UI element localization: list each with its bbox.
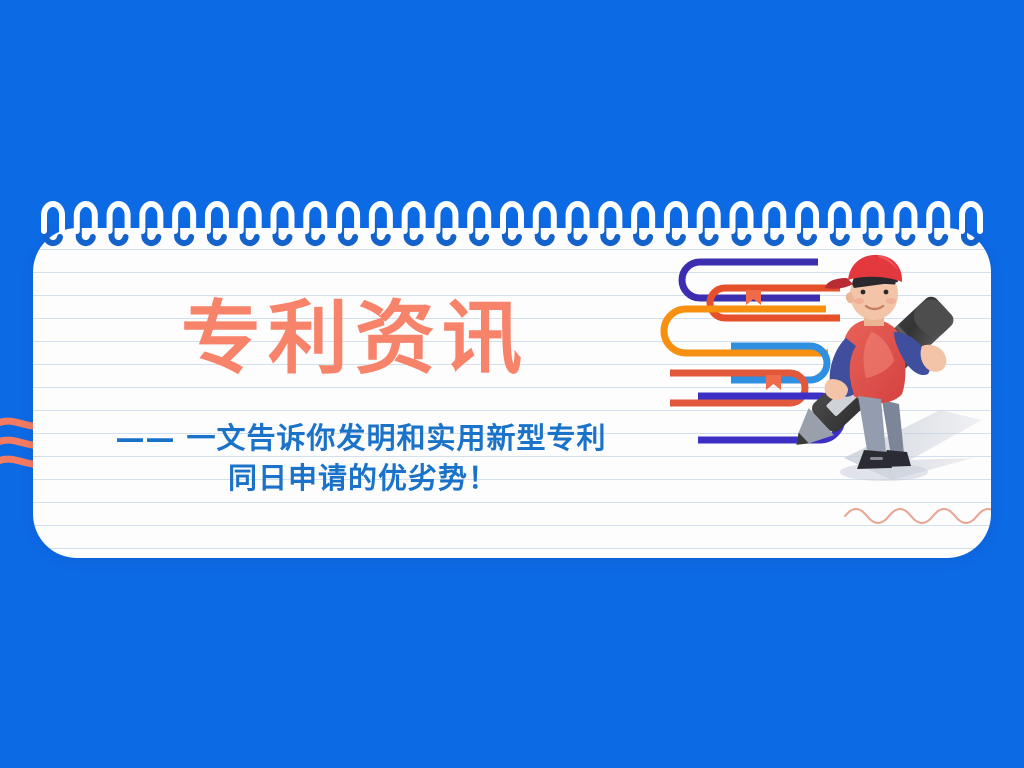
page-subtitle: —— 一文告诉你发明和实用新型专利 同日申请的优劣势！ bbox=[83, 418, 643, 498]
spiral-ring bbox=[929, 204, 947, 231]
page-title: 专利资讯 bbox=[181, 296, 529, 382]
spiral-ring bbox=[601, 204, 619, 231]
spiral-ring bbox=[634, 204, 652, 231]
spiral-ring bbox=[306, 204, 324, 231]
spiral-ring bbox=[896, 204, 914, 231]
subtitle-line-1: —— 一文告诉你发明和实用新型专利 bbox=[83, 418, 643, 458]
subtitle-line-2: 同日申请的优劣势！ bbox=[83, 458, 643, 498]
spiral-ring bbox=[733, 204, 751, 231]
spiral-ring bbox=[142, 204, 160, 231]
spiral-ring bbox=[864, 204, 882, 231]
spiral-ring bbox=[405, 204, 423, 231]
spiral-ring bbox=[503, 204, 521, 231]
spiral-ring bbox=[372, 204, 390, 231]
spiral-ring bbox=[175, 204, 193, 231]
spiral-ring bbox=[569, 204, 587, 231]
spiral-ring bbox=[798, 204, 816, 231]
spiral-ring bbox=[470, 204, 488, 231]
spiral-ring bbox=[700, 204, 718, 231]
spiral-ring bbox=[44, 204, 62, 231]
spiral-ring bbox=[77, 204, 95, 231]
spiral-ring bbox=[831, 204, 849, 231]
spiral-ring bbox=[962, 204, 980, 231]
spiral-ring bbox=[667, 204, 685, 231]
spiral-ring bbox=[274, 204, 292, 231]
poster-canvas: 专利资讯 —— 一文告诉你发明和实用新型专利 同日申请的优劣势！ bbox=[0, 0, 1024, 768]
spiral-ring bbox=[339, 204, 357, 231]
text-block: 专利资讯 —— 一文告诉你发明和实用新型专利 同日申请的优劣势！ bbox=[33, 228, 673, 558]
spiral-ring bbox=[765, 204, 783, 231]
spiral-ring bbox=[208, 204, 226, 231]
spiral-ring bbox=[241, 204, 259, 231]
spiral-ring bbox=[437, 204, 455, 231]
notebook-card: 专利资讯 —— 一文告诉你发明和实用新型专利 同日申请的优劣势！ bbox=[33, 228, 991, 558]
spiral-ring bbox=[110, 204, 128, 231]
spiral-ring bbox=[536, 204, 554, 231]
